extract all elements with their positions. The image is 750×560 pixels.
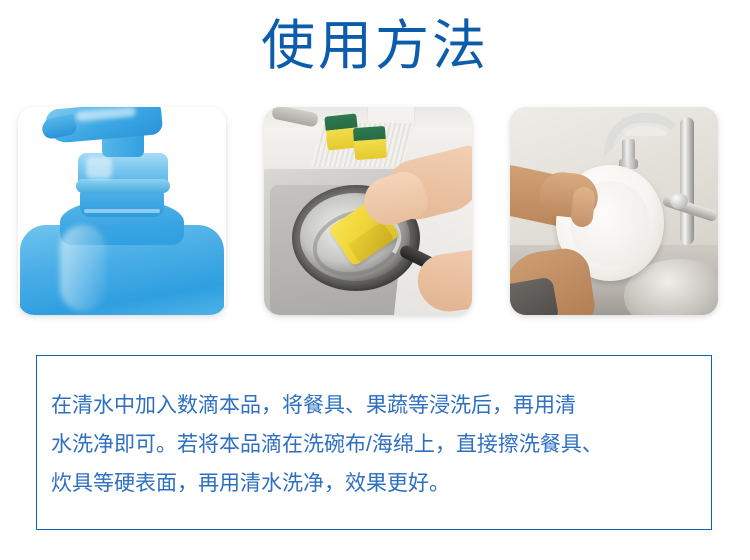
rinsing-plate-under-faucet-image xyxy=(510,107,718,315)
pump-bottle-closeup-image xyxy=(18,107,226,315)
sleeve-shape xyxy=(510,276,559,315)
bottle-neck-thread-shape xyxy=(84,209,160,213)
gallery-card-washing-pan xyxy=(264,107,472,315)
faucet-knob-shape xyxy=(670,193,688,209)
gallery-card-rinsing-plate xyxy=(510,107,718,315)
instructions-text: 在清水中加入数滴本品，将餐具、果蔬等浸洗后，再用清 水洗净即可。若将本品滴在洗碗… xyxy=(51,386,703,503)
bottle-highlight-shape xyxy=(60,225,106,311)
usage-instructions-page: 使用方法 xyxy=(0,0,750,560)
instructions-line: 水洗净即可。若将本品滴在洗碗布/海绵上，直接擦洗餐具、 xyxy=(51,425,703,464)
pump-collar-top-shape xyxy=(76,179,170,193)
sponge-yellow-layer xyxy=(354,139,387,160)
washing-pan-with-sponge-image xyxy=(264,107,472,315)
pump-collar-highlight-shape xyxy=(86,157,112,179)
instructions-box: 在清水中加入数滴本品，将餐具、果蔬等浸洗后，再用清 水洗净即可。若将本品滴在洗碗… xyxy=(36,355,712,530)
instructions-line: 炊具等硬表面，再用清水洗净，效果更好。 xyxy=(51,464,703,503)
instructions-line: 在清水中加入数滴本品，将餐具、果蔬等浸洗后，再用清 xyxy=(51,386,703,425)
page-title: 使用方法 xyxy=(0,14,750,78)
gallery-card-pump-bottle xyxy=(18,107,226,315)
photo-gallery xyxy=(0,107,750,317)
counter-sponge-shape xyxy=(353,126,387,160)
